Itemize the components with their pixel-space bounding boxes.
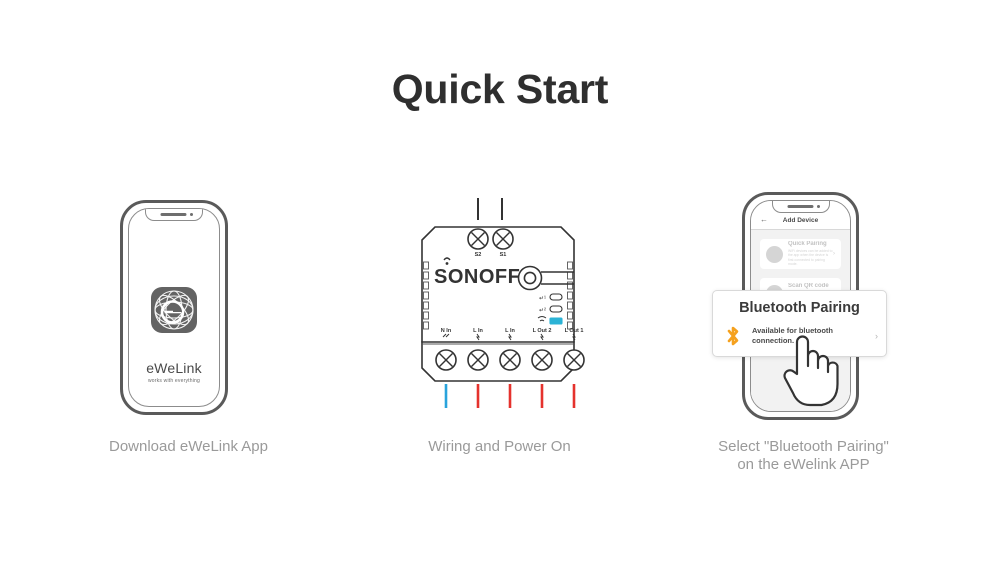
hand-pointer-icon [777, 328, 839, 413]
list-item-text: Quick Pairing WiFi devices can be added … [788, 241, 833, 266]
step-select-bluetooth-pairing: ← Add Device Quick Pairing WiFi devices … [637, 180, 970, 500]
phone-camera-icon [817, 205, 820, 208]
terminal-label-s1: S1 [500, 252, 507, 258]
terminal-label-l-in-1: L In [473, 328, 483, 334]
list-item-title: Scan QR code [788, 283, 833, 289]
page-title: Quick Start [0, 66, 1000, 113]
chevron-right-icon: › [875, 331, 878, 341]
quick-pairing-icon [766, 246, 783, 263]
step-caption-1: Download eWeLink App [22, 438, 355, 456]
app-brand-tagline: works with everything [129, 378, 219, 384]
terminal-label-l-in-2: L In [505, 328, 515, 334]
callout-title: Bluetooth Pairing [713, 300, 886, 316]
terminal-label-l-out-1: L Out 1 [565, 328, 584, 334]
step-download-app: eWeLink works with everything Download e… [22, 180, 355, 500]
sonoff-module-illustration: S2 S1 SONOFF [378, 192, 618, 427]
phone-screen-splash: eWeLink works with everything [128, 208, 220, 407]
step-caption-3-line1: Select "Bluetooth Pairing" [718, 438, 889, 455]
bluetooth-icon [723, 325, 743, 347]
list-item-title: Quick Pairing [788, 241, 833, 247]
step-wiring-power-on: S2 S1 SONOFF [333, 180, 666, 500]
phone-mockup-splash: eWeLink works with everything [120, 200, 228, 415]
app-brand-block: eWeLink works with everything [129, 360, 219, 384]
back-arrow-icon[interactable]: ← [760, 216, 768, 224]
list-item-quick-pairing[interactable]: Quick Pairing WiFi devices can be added … [760, 239, 841, 269]
step-caption-3-line2: on the eWelink APP [637, 456, 970, 474]
svg-text:SONOFF: SONOFF [434, 266, 520, 288]
phone-speaker-icon [160, 213, 186, 216]
list-item-subtitle: WiFi devices can be added to the app whe… [788, 249, 833, 267]
phone-notch [145, 209, 203, 221]
chevron-right-icon: › [833, 251, 835, 257]
app-brand-name: eWeLink [129, 360, 219, 376]
svg-text:↵²: ↵² [539, 308, 546, 314]
step-caption-3: Select "Bluetooth Pairing" on the eWelin… [637, 438, 970, 474]
phone-camera-icon [190, 213, 193, 216]
ewelink-logo-icon [151, 287, 197, 333]
app-header-title: Add Device [783, 217, 818, 224]
terminal-label-n-in: N In [441, 328, 452, 334]
app-header: ← Add Device [751, 211, 850, 230]
terminal-label-s2: S2 [475, 252, 482, 258]
step-caption-2: Wiring and Power On [333, 438, 666, 456]
quick-start-page: Quick Start [0, 0, 1000, 584]
svg-text:↵¹: ↵¹ [539, 296, 546, 302]
steps-container: eWeLink works with everything Download e… [0, 180, 1000, 500]
terminal-label-l-out-2: L Out 2 [533, 328, 552, 334]
phone-speaker-icon [787, 205, 813, 208]
